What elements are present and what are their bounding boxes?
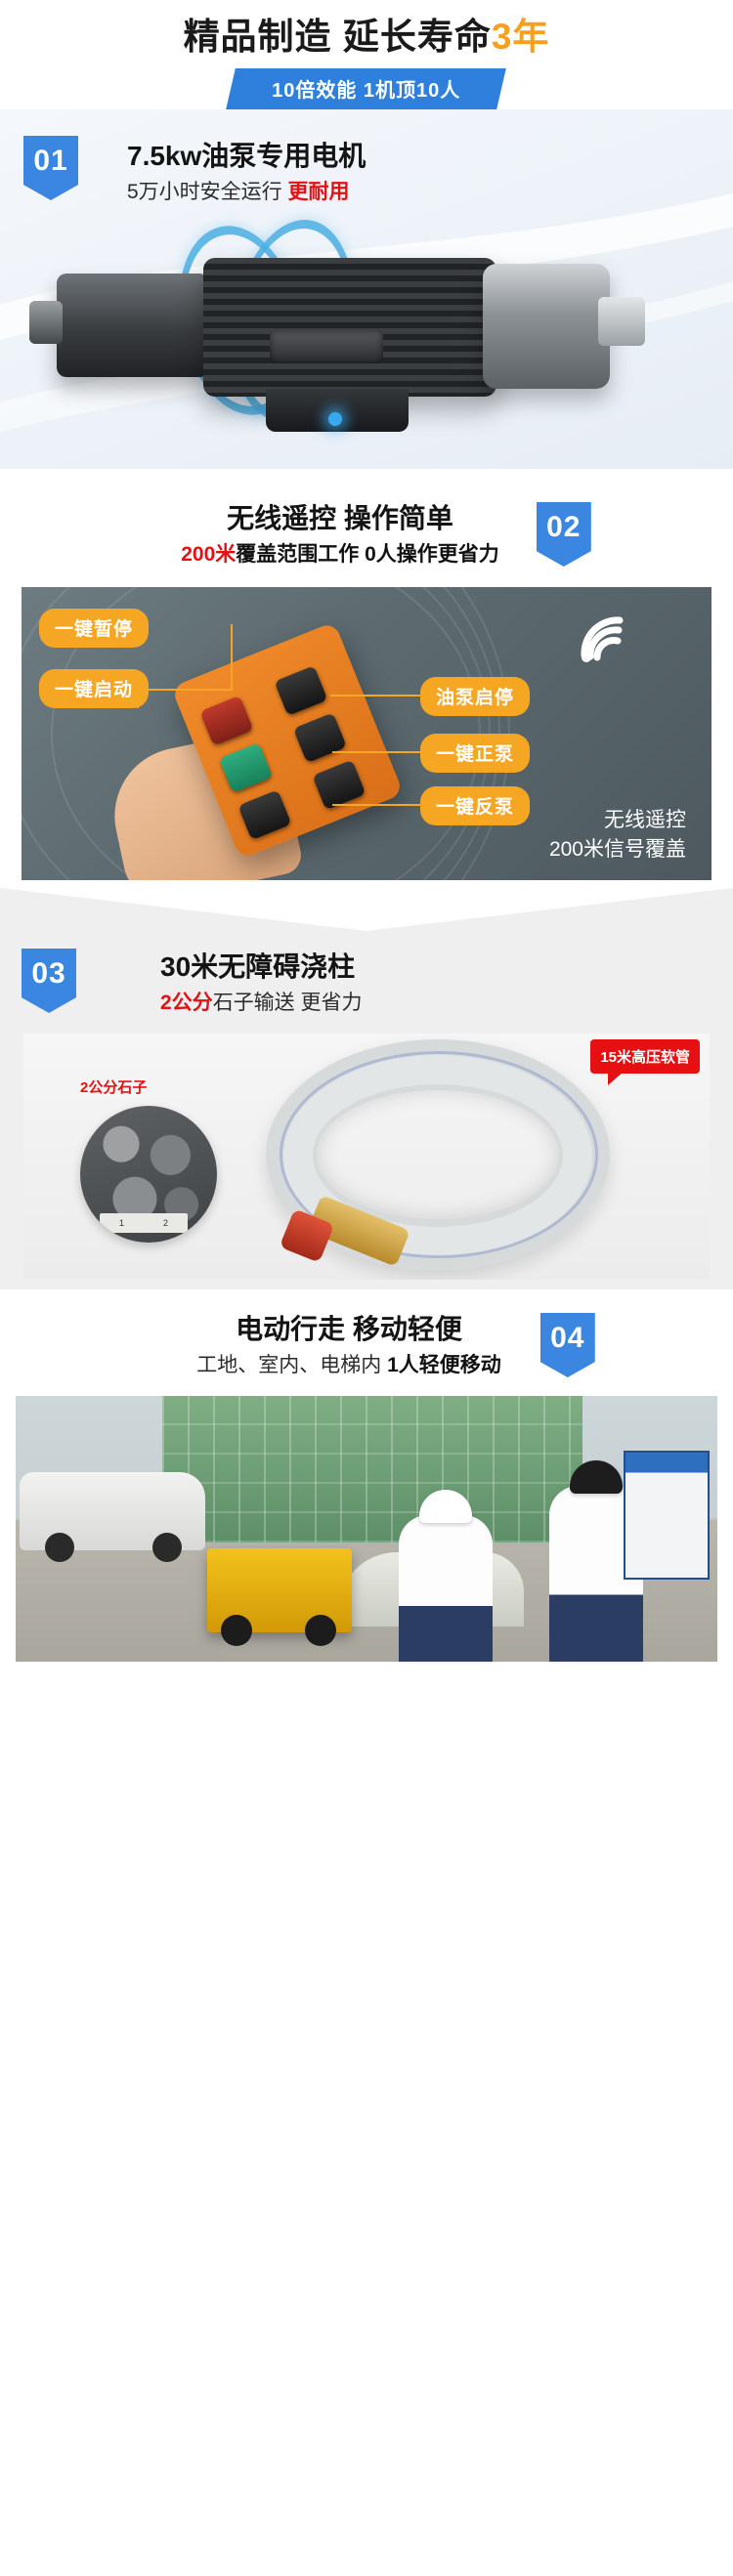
leader-line [137,689,233,691]
hose-callout-badge: 15米高压软管 [590,1039,700,1074]
page-title: 精品制造 延长寿命3年 [0,14,733,61]
section-04-subtitle-bold: 1人轻便移动 [387,1354,501,1376]
ruler-tick-1: 1 [119,1218,124,1228]
remote-key-start [219,742,273,793]
header-banner-label: 10倍效能 1机顶10人 [273,74,461,103]
section-02-title: 无线遥控 操作简单 [181,500,499,537]
section-03-title: 30米无障碍浇柱 [160,949,363,986]
callout-start: 一键启动 [39,669,149,708]
remote-key-pump-toggle [274,665,327,716]
motor-product-image [0,203,733,459]
section-04-title: 电动行走 移动轻便 [196,1311,501,1348]
section-04-header: 电动行走 移动轻便 工地、室内、电梯内 1人轻便移动 04 [0,1311,733,1380]
motor-housing [203,258,496,397]
section-02-header: 无线遥控 操作简单 200米覆盖范围工作 0人操作更省力 02 [0,500,733,570]
motor-gearbox [57,274,209,377]
section-01-text: 7.5kw油泵专用电机 5万小时安全运行 更耐用 [127,138,366,207]
scaffolding [162,1396,582,1542]
section-04-subtitle: 工地、室内、电梯内 1人轻便移动 [196,1350,501,1380]
motor-led-indicator [328,412,342,426]
concrete-pump-machine [207,1548,352,1632]
leader-line [332,751,420,753]
remote-key-spare [237,789,291,840]
header-banner: 10倍效能 1机顶10人 [227,68,507,109]
section-02-subtitle-plain: 覆盖范围工作 0人操作更省力 [236,543,499,566]
leader-line [332,804,420,806]
callout-pause: 一键暂停 [39,609,149,648]
overlay-line-1: 无线遥控 [549,806,686,835]
machine-wheel [305,1615,336,1646]
section-03-subtitle-plain: 石子输送 更省力 [213,992,363,1014]
chevron-divider [0,880,733,931]
safety-notice-board [624,1451,710,1580]
remote-key-forward [293,712,347,763]
hose-image: 2公分石子 1 2 15米高压软管 [23,1034,710,1280]
section-03-subtitle: 2公分石子输送 更省力 [160,988,363,1018]
gravel-sample-photo: 1 2 [80,1106,217,1243]
motor-shaft [598,297,645,346]
page-title-main: 精品制造 延长寿命 [184,17,492,57]
ruler-tick-2: 2 [163,1218,168,1228]
section-01-header: 01 7.5kw油泵专用电机 5万小时安全运行 更耐用 [0,109,733,207]
section-01-subtitle: 5万小时安全运行 更耐用 [127,177,366,207]
section-01-subtitle-red: 更耐用 [288,181,350,203]
stone-label: 2公分石子 [80,1077,147,1097]
page-header: 精品制造 延长寿命3年 10倍效能 1机顶10人 [0,0,733,109]
remote-key-stop [199,696,253,746]
machine-wheel [221,1615,252,1646]
section-03-badge: 03 [22,949,76,1013]
ruler-scale: 1 2 [100,1213,188,1233]
section-03-subtitle-red: 2公分 [160,992,213,1014]
remote-overlay-text: 无线遥控 200米信号覆盖 [549,806,686,865]
motor-end-cap [483,264,610,389]
overlay-line-2: 200米信号覆盖 [549,835,686,865]
section-03-header: 03 30米无障碍浇柱 2公分石子输送 更省力 [0,949,733,1018]
section-02-subtitle-red: 200米 [181,543,236,566]
section-04-badge: 04 [540,1313,595,1377]
section-hose: 03 30米无障碍浇柱 2公分石子输送 更省力 2公分石子 1 2 15米高压软… [0,931,733,1289]
section-01-subtitle-plain: 5万小时安全运行 [127,181,288,203]
header-banner-wrap: 10倍效能 1机顶10人 [0,68,733,109]
remote-key-reverse [312,760,366,811]
section-01-title: 7.5kw油泵专用电机 [127,138,366,175]
section-02-subtitle: 200米覆盖范围工作 0人操作更省力 [181,539,499,570]
section-02-badge: 02 [537,502,591,567]
leader-line [330,695,420,697]
section-remote: 无线遥控 操作简单 200米覆盖范围工作 0人操作更省力 02 一键暂停 [0,469,733,880]
section-03-text: 30米无障碍浇柱 2公分石子输送 更省力 [160,949,363,1018]
remote-control-image: 一键暂停 一键启动 油泵启停 一键正泵 一键反泵 无线遥控 200米信号覆盖 [22,587,711,880]
section-motor: 01 7.5kw油泵专用电机 5万小时安全运行 更耐用 [0,109,733,469]
section-04-subtitle-plain: 工地、室内、电梯内 [196,1354,387,1376]
section-01-badge: 01 [23,136,78,200]
callout-reverse-pump: 一键反泵 [420,786,530,825]
worker-with-helmet [399,1515,493,1662]
leader-line [231,624,233,689]
construction-site-image [16,1396,717,1662]
page-title-highlight: 3年 [492,17,550,57]
wifi-icon [575,611,637,663]
section-04-text: 电动行走 移动轻便 工地、室内、电梯内 1人轻便移动 [196,1311,501,1380]
callout-forward-pump: 一键正泵 [420,734,530,773]
callout-pump-toggle: 油泵启停 [420,677,530,716]
van-wheel [152,1533,182,1562]
parked-van [20,1472,205,1550]
section-mobility: 电动行走 移动轻便 工地、室内、电梯内 1人轻便移动 04 [0,1289,733,1662]
van-wheel [45,1533,74,1562]
section-02-text: 无线遥控 操作简单 200米覆盖范围工作 0人操作更省力 [181,500,499,570]
motor-terminal-box [270,330,383,363]
